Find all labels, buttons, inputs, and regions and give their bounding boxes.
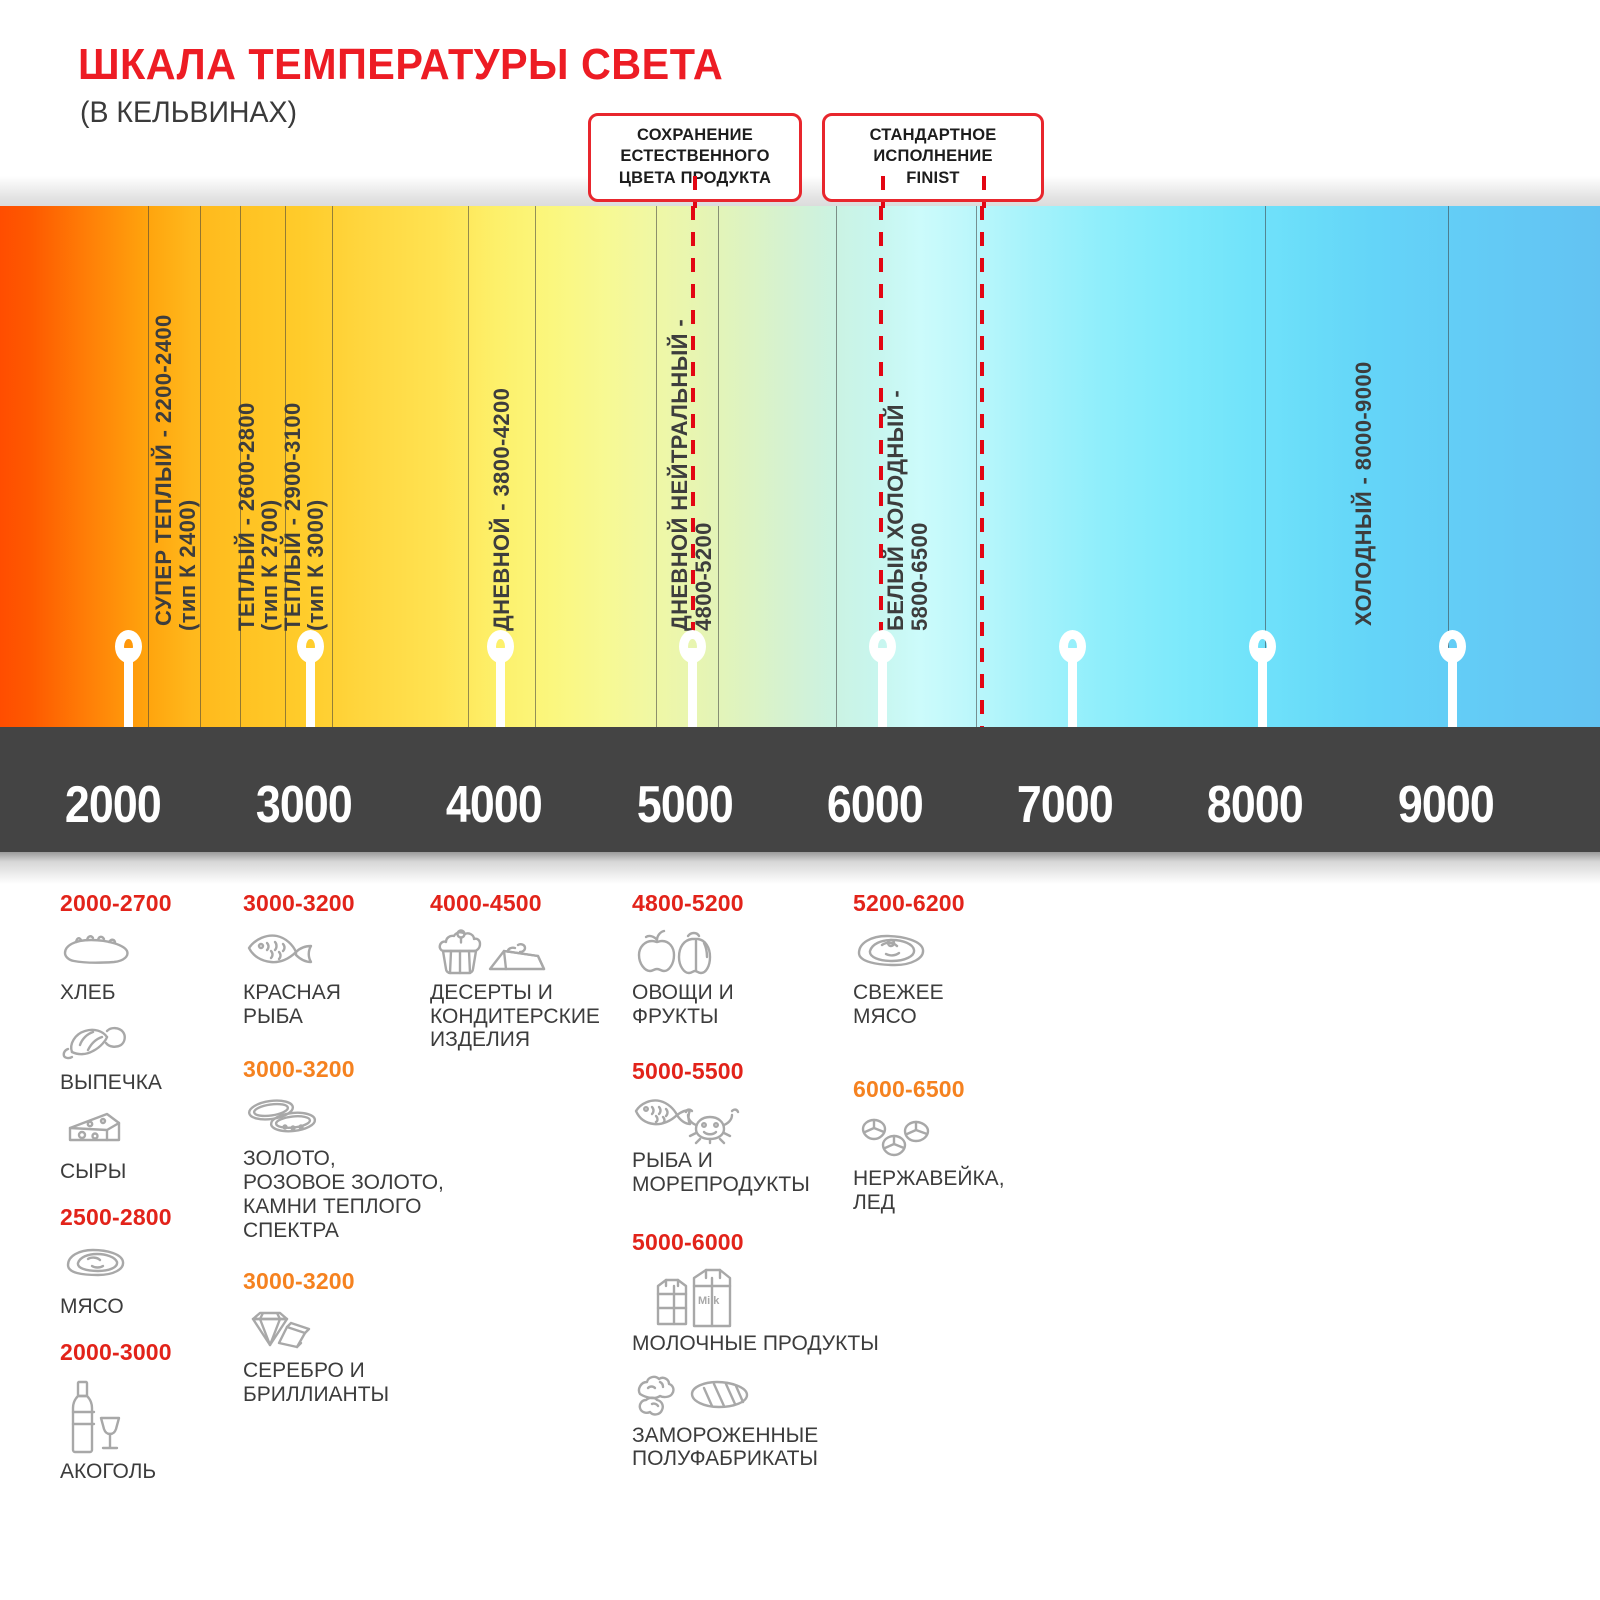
legend-item-label: РЫБА И МОРЕПРОДУКТЫ xyxy=(632,1149,847,1196)
band-sublabel-super-warm: (тип К 2400) xyxy=(176,451,200,631)
legend-range-label: 5000-5500 xyxy=(632,1058,847,1085)
legend-item: НЕРЖАВЕЙКА, ЛЕД xyxy=(853,1115,1043,1214)
legend-item-label: ОВОЩИ И ФРУКТЫ xyxy=(632,981,847,1028)
cupcake-cake-icon xyxy=(430,929,630,977)
legend-item-label: ЗОЛОТО, РОЗОВОЕ ЗОЛОТО, КАМНИ ТЕПЛОГО СП… xyxy=(243,1147,478,1242)
diamond-icon xyxy=(243,1307,478,1355)
legend-item-label: МОЛОЧНЫЕ ПРОДУКТЫ xyxy=(632,1332,932,1356)
marker-line-finist-high xyxy=(980,206,984,727)
axis-tick-3000: 3000 xyxy=(256,775,352,835)
band-label-warm-3000: ТЕПЛЫЙ - 2900-3100 xyxy=(281,331,305,631)
band-divider xyxy=(976,206,977,727)
band-sublabel-white-cold: 5800-6500 xyxy=(908,471,932,631)
band-label-super-warm: СУПЕР ТЕПЛЫЙ - 2200-2400 xyxy=(152,246,176,626)
legend-range-label: 4800-5200 xyxy=(632,890,847,917)
legend-item: СВЕЖЕЕ МЯСО xyxy=(853,929,1043,1028)
steak-icon xyxy=(60,1243,235,1291)
legend-column-4: 4800-5200 ОВОЩИ И ФРУКТЫ 5000-5500 РЫБА … xyxy=(632,890,847,1485)
legend-item: МЯСО xyxy=(60,1243,235,1319)
legend-group: 5000-6000 Milk МОЛОЧНЫЕ ПРОДУКТЫ ЗАМОРОЖ… xyxy=(632,1229,932,1471)
legend-item-label: АКОГОЛЬ xyxy=(60,1460,235,1484)
band-sublabel-warm-2700: (тип К 2700) xyxy=(258,456,282,631)
callout-connector-natural xyxy=(693,176,697,208)
legend-group: 5000-5500 РЫБА И МОРЕПРОДУКТЫ xyxy=(632,1058,847,1196)
legend-item: ЗОЛОТО, РОЗОВОЕ ЗОЛОТО, КАМНИ ТЕПЛОГО СП… xyxy=(243,1095,478,1242)
fish-crab-icon xyxy=(632,1097,847,1145)
legend-column-5: 5200-6200 СВЕЖЕЕ МЯСО 6000-6500 НЕРЖАВЕЙ… xyxy=(853,890,1043,1229)
band-label-warm-2700: ТЕПЛЫЙ - 2600-2800 xyxy=(235,331,259,631)
legend-range-label: 5200-6200 xyxy=(853,890,1043,917)
legend-item: ОВОЩИ И ФРУКТЫ xyxy=(632,929,847,1028)
legend-group: 4800-5200 ОВОЩИ И ФРУКТЫ xyxy=(632,890,847,1028)
legend-range-label: 2000-3000 xyxy=(60,1339,235,1366)
legend-item-label: НЕРЖАВЕЙКА, ЛЕД xyxy=(853,1167,1043,1214)
legend-item-label: СЕРЕБРО И БРИЛЛИАНТЫ xyxy=(243,1359,478,1406)
bracelet-icon xyxy=(243,1095,478,1143)
infographic-root: ШКАЛА ТЕМПЕРАТУРЫ СВЕТА (В КЕЛЬВИНАХ) СО… xyxy=(0,0,1600,1600)
milk-carton-icon: Milk xyxy=(642,1268,932,1328)
croissant-icon xyxy=(60,1019,235,1067)
band-label-daylight: ДНЕВНОЙ - 3800-4200 xyxy=(490,321,514,631)
band-label-white-cold: БЕЛЫЙ ХОЛОДНЫЙ - xyxy=(884,311,908,631)
axis-tick-8000: 8000 xyxy=(1207,775,1303,835)
legend-group: 2000-2700 ХЛЕБ ВЫПЕЧКА xyxy=(60,890,235,1184)
axis-tick-4000: 4000 xyxy=(446,775,542,835)
axis-tick-9000: 9000 xyxy=(1398,775,1494,835)
callout-line-2: ЕСТЕСТВЕННОГО xyxy=(603,146,787,167)
band-sublabel-warm-3000: (тип К 3000) xyxy=(304,456,328,631)
callout-line-1: СОХРАНЕНИЕ xyxy=(603,125,787,146)
legend-item-label: ХЛЕБ xyxy=(60,981,235,1005)
callout-line-3: FINIST xyxy=(837,168,1029,189)
legend-area: 2000-2700 ХЛЕБ ВЫПЕЧКА xyxy=(0,890,1600,1600)
frozen-food-icon xyxy=(632,1372,932,1420)
legend-group: 3000-3200 ЗОЛОТО, РОЗОВОЕ ЗОЛОТО, КАМНИ … xyxy=(243,1056,478,1242)
svg-text:Milk: Milk xyxy=(698,1295,720,1307)
fresh-meat-icon xyxy=(853,929,1043,977)
band-divider xyxy=(718,206,719,727)
legend-group: 2000-3000 АКОГОЛЬ xyxy=(60,1339,235,1484)
legend-group: 3000-3200 СЕРЕБРО И БРИЛЛИАНТЫ xyxy=(243,1268,478,1406)
band-bottom-shadow xyxy=(0,852,1600,884)
legend-item-label: МЯСО xyxy=(60,1295,235,1319)
legend-group: 6000-6500 НЕРЖАВЕЙКА, ЛЕД xyxy=(853,1076,1043,1214)
legend-range-label: 5000-6000 xyxy=(632,1229,932,1256)
legend-item: ХЛЕБ xyxy=(60,929,235,1005)
band-divider xyxy=(836,206,837,727)
band-divider xyxy=(656,206,657,727)
band-sublabel-daylight-neutral: 4800-5200 xyxy=(692,471,716,631)
legend-range-label: 3000-3200 xyxy=(243,1268,478,1295)
legend-item-label: СЫРЫ xyxy=(60,1160,235,1184)
legend-group: 4000-4500 ДЕСЕРТЫ И КОНДИТЕРСКИЕ ИЗДЕЛИЯ xyxy=(430,890,630,1052)
apple-pepper-icon xyxy=(632,929,847,977)
band-divider xyxy=(535,206,536,727)
cheese-icon xyxy=(60,1108,235,1156)
temperature-gradient-band: СУПЕР ТЕПЛЫЙ - 2200-2400 (тип К 2400) ТЕ… xyxy=(0,206,1600,727)
legend-item: СЕРЕБРО И БРИЛЛИАНТЫ xyxy=(243,1307,478,1406)
legend-range-label: 6000-6500 xyxy=(853,1076,1043,1103)
legend-group: 2500-2800 МЯСО xyxy=(60,1204,235,1319)
legend-range-label: 4000-4500 xyxy=(430,890,630,917)
bread-icon xyxy=(60,929,235,977)
legend-item-label: ДЕСЕРТЫ И КОНДИТЕРСКИЕ ИЗДЕЛИЯ xyxy=(430,981,630,1052)
legend-column-3: 4000-4500 ДЕСЕРТЫ И КОНДИТЕРСКИЕ ИЗДЕЛИЯ xyxy=(430,890,630,1066)
scale-axis-bar: 2000 3000 4000 5000 6000 7000 8000 9000 xyxy=(0,727,1600,852)
axis-tick-5000: 5000 xyxy=(637,775,733,835)
ice-cubes-icon xyxy=(853,1115,1043,1163)
band-divider xyxy=(332,206,333,727)
band-label-cold: ХОЛОДНЫЙ - 8000-9000 xyxy=(1352,296,1376,626)
page-subtitle: (В КЕЛЬВИНАХ) xyxy=(80,96,297,130)
callout-connector-standard-a xyxy=(881,176,885,208)
legend-item: ЗАМОРОЖЕННЫЕ ПОЛУФАБРИКАТЫ xyxy=(632,1372,932,1471)
legend-item-label: ВЫПЕЧКА xyxy=(60,1071,235,1095)
legend-item-label: СВЕЖЕЕ МЯСО xyxy=(853,981,1043,1028)
legend-item-label: ЗАМОРОЖЕННЫЕ ПОЛУФАБРИКАТЫ xyxy=(632,1424,932,1471)
legend-column-1: 2000-2700 ХЛЕБ ВЫПЕЧКА xyxy=(60,890,235,1498)
legend-item: Milk МОЛОЧНЫЕ ПРОДУКТЫ xyxy=(642,1268,932,1356)
band-divider xyxy=(468,206,469,727)
axis-tick-7000: 7000 xyxy=(1017,775,1113,835)
legend-item: АКОГОЛЬ xyxy=(60,1378,235,1484)
callout-standard-finist: СТАНДАРТНОЕ ИСПОЛНЕНИЕ FINIST xyxy=(822,113,1044,202)
band-label-daylight-neutral: ДНЕВНОЙ НЕЙТРАЛЬНЫЙ - xyxy=(668,236,692,631)
axis-tick-2000: 2000 xyxy=(65,775,161,835)
legend-group: 5200-6200 СВЕЖЕЕ МЯСО xyxy=(853,890,1043,1028)
band-divider xyxy=(148,206,149,727)
legend-item: РЫБА И МОРЕПРОДУКТЫ xyxy=(632,1097,847,1196)
callout-line-2: ИСПОЛНЕНИЕ xyxy=(837,146,1029,167)
bottle-glass-icon xyxy=(60,1378,235,1456)
callout-connector-standard-b xyxy=(982,176,986,208)
page-title: ШКАЛА ТЕМПЕРАТУРЫ СВЕТА xyxy=(78,40,723,90)
legend-range-label: 2500-2800 xyxy=(60,1204,235,1231)
legend-item: ДЕСЕРТЫ И КОНДИТЕРСКИЕ ИЗДЕЛИЯ xyxy=(430,929,630,1052)
legend-range-label: 2000-2700 xyxy=(60,890,235,917)
callout-line-1: СТАНДАРТНОЕ xyxy=(837,125,1029,146)
axis-tick-6000: 6000 xyxy=(827,775,923,835)
legend-item: СЫРЫ xyxy=(60,1108,235,1184)
band-divider xyxy=(200,206,201,727)
legend-item: ВЫПЕЧКА xyxy=(60,1019,235,1095)
